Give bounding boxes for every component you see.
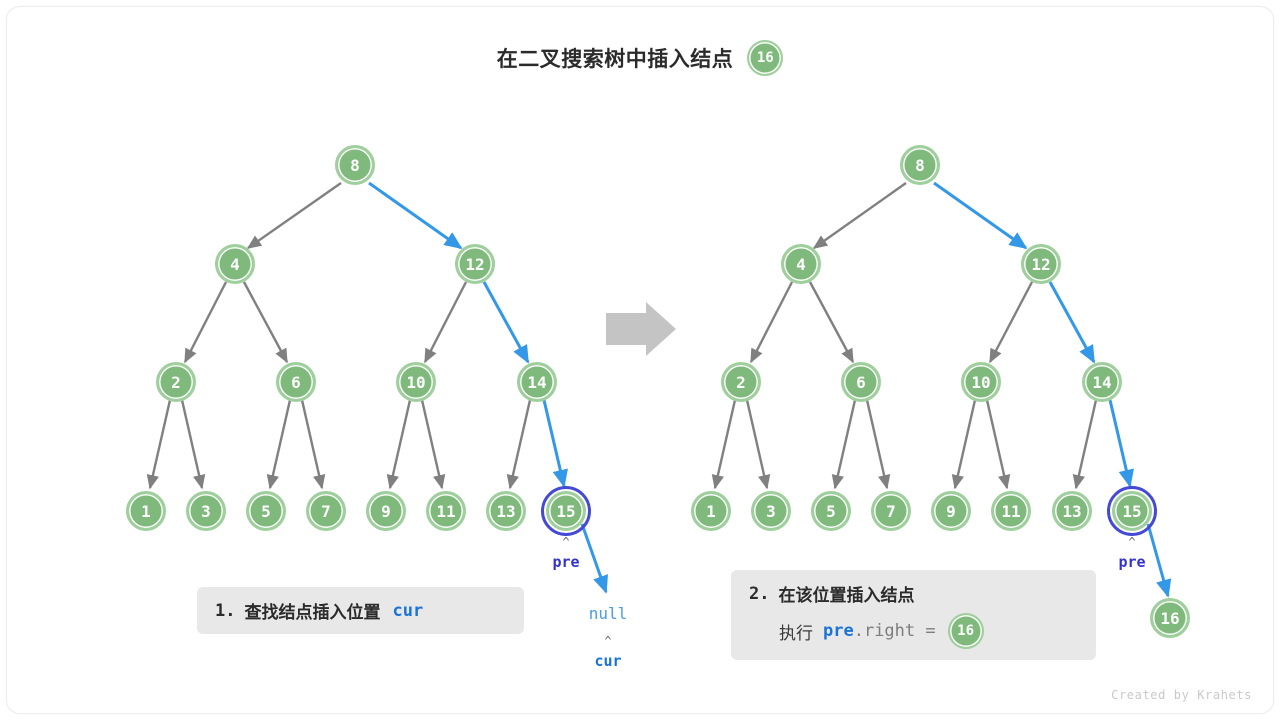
node-r-16-inserted[interactable]: 16 xyxy=(1150,598,1190,638)
node-r-6[interactable]: 6 xyxy=(841,362,881,402)
node-11[interactable]: 11 xyxy=(426,491,466,531)
diagram-canvas: 在二叉搜索树中插入结点 16 8 4 12 2 6 10 14 1 3 5 7 … xyxy=(0,0,1280,720)
title-node-16: 16 xyxy=(747,40,783,76)
pre-pointer-label: pre xyxy=(552,553,579,571)
node-10[interactable]: 10 xyxy=(396,362,436,402)
caption-2-exec-field: .right = xyxy=(854,621,936,641)
caption-1-number: 1. xyxy=(215,601,235,621)
caption-step-1: 1. 查找结点插入位置 cur xyxy=(197,587,524,634)
node-14[interactable]: 14 xyxy=(517,362,557,402)
node-2[interactable]: 2 xyxy=(156,362,196,402)
node-r-9[interactable]: 9 xyxy=(931,491,971,531)
node-r-11[interactable]: 11 xyxy=(991,491,1031,531)
node-r-5[interactable]: 5 xyxy=(811,491,851,531)
node-r-1[interactable]: 1 xyxy=(691,491,731,531)
node-r-3[interactable]: 3 xyxy=(751,491,791,531)
caption-step-2: 2. 在该位置插入结点 执行 pre .right = 16 xyxy=(731,570,1096,660)
node-r-14[interactable]: 14 xyxy=(1082,362,1122,402)
caption-2-exec-pointer: pre xyxy=(823,621,854,641)
node-r-10[interactable]: 10 xyxy=(961,362,1001,402)
node-9[interactable]: 9 xyxy=(366,491,406,531)
caption-1-text: 查找结点插入位置 xyxy=(244,598,380,623)
node-15-highlighted[interactable]: 15 xyxy=(546,491,586,531)
pre-caret-icon-right: ^ xyxy=(1128,535,1135,549)
node-6[interactable]: 6 xyxy=(276,362,316,402)
watermark: Created by Krahets xyxy=(1111,688,1252,702)
node-8[interactable]: 8 xyxy=(335,145,375,185)
page-title: 在二叉搜索树中插入结点 16 xyxy=(0,40,1280,76)
node-3[interactable]: 3 xyxy=(186,491,226,531)
node-r-2[interactable]: 2 xyxy=(721,362,761,402)
page-title-text: 在二叉搜索树中插入结点 xyxy=(497,43,734,73)
node-r-4[interactable]: 4 xyxy=(781,244,821,284)
node-r-7[interactable]: 7 xyxy=(871,491,911,531)
node-5[interactable]: 5 xyxy=(246,491,286,531)
node-7[interactable]: 7 xyxy=(306,491,346,531)
node-r-13[interactable]: 13 xyxy=(1052,491,1092,531)
caption-2-node-16: 16 xyxy=(948,613,984,649)
caption-2-number: 2. xyxy=(749,584,769,604)
cur-caret-icon: ^ xyxy=(604,634,611,648)
node-12[interactable]: 12 xyxy=(455,244,495,284)
caption-2-exec-word: 执行 xyxy=(779,619,813,644)
node-r-15-highlighted[interactable]: 15 xyxy=(1112,491,1152,531)
caption-1-pointer: cur xyxy=(392,601,423,621)
caption-2-text: 在该位置插入结点 xyxy=(778,581,914,606)
node-4[interactable]: 4 xyxy=(215,244,255,284)
pre-pointer-label-right: pre xyxy=(1118,553,1145,571)
node-13[interactable]: 13 xyxy=(486,491,526,531)
node-1[interactable]: 1 xyxy=(126,491,166,531)
cur-pointer-label: cur xyxy=(594,652,621,670)
null-node-label: null xyxy=(589,604,628,623)
node-r-12[interactable]: 12 xyxy=(1021,244,1061,284)
pre-caret-icon: ^ xyxy=(562,535,569,549)
node-r-8[interactable]: 8 xyxy=(900,145,940,185)
